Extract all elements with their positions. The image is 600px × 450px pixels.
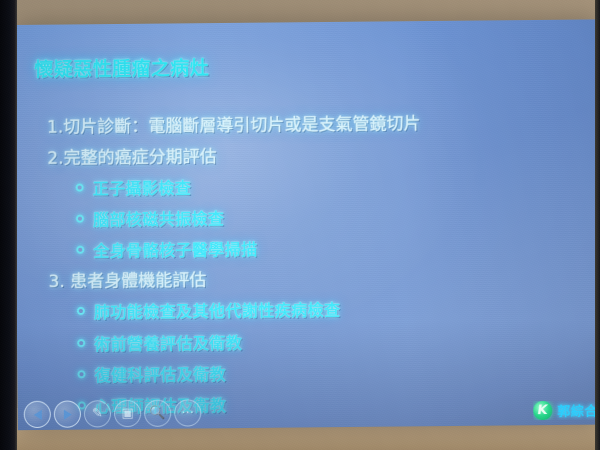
- square-icon: ▣: [121, 407, 133, 420]
- sub-bullet-item-3: 全身骨骼核子醫學掃描: [76, 236, 258, 262]
- bullet-item-3-label: 3. 患者身體機能評估: [48, 271, 206, 293]
- circle-bullet-icon: [76, 184, 84, 192]
- circle-bullet-icon: [77, 370, 85, 378]
- bullet-item-1-label: 1.切片診斷：電腦斷層導引切片或是支氣管鏡切片: [47, 114, 421, 138]
- bullet-item-3: 3. 患者身體機能評估: [48, 266, 206, 293]
- slide-title: 懷疑惡性腫瘤之病灶: [34, 53, 209, 82]
- triangle-right-icon: [63, 409, 71, 419]
- sub-bullet-item-5-label: 術前營養評估及衛教: [94, 330, 242, 356]
- sub-bullet-item-6-label: 復健科評估及衛教: [94, 361, 226, 386]
- sub-bullet-item-1-label: 正子攝影檢查: [93, 174, 192, 199]
- highlighter-tool-button[interactable]: ▣: [114, 400, 141, 427]
- sub-bullet-item-6: 復健科評估及衛教: [77, 361, 226, 387]
- sub-bullet-item-5: 術前營養評估及衛教: [77, 330, 242, 356]
- zoom-tool-button[interactable]: 🔍: [144, 400, 171, 427]
- circle-bullet-icon: [76, 215, 84, 223]
- hospital-logo-icon: K: [533, 401, 552, 420]
- projection-screen: 懷疑惡性腫瘤之病灶 1.切片診斷：電腦斷層導引切片或是支氣管鏡切片 2.完整的癌…: [14, 19, 600, 430]
- ellipsis-icon: ⋯: [181, 406, 194, 419]
- hospital-logo-letter: K: [537, 404, 549, 417]
- sub-bullet-item-4-label: 肺功能檢查及其他代謝性疾病檢查: [94, 296, 341, 322]
- circle-bullet-icon: [76, 246, 84, 254]
- photo-of-projected-slide: 懷疑惡性腫瘤之病灶 1.切片診斷：電腦斷層導引切片或是支氣管鏡切片 2.完整的癌…: [0, 0, 600, 450]
- bullet-item-2: 2.完整的癌症分期評估: [47, 142, 217, 169]
- photo-right-dark-edge: [595, 0, 600, 450]
- circle-bullet-icon: [77, 339, 85, 347]
- slide-content: 懷疑惡性腫瘤之病灶 1.切片診斷：電腦斷層導引切片或是支氣管鏡切片 2.完整的癌…: [14, 19, 600, 430]
- sub-bullet-item-2: 腦部核磁共振檢查: [76, 205, 225, 230]
- sub-bullet-item-2-label: 腦部核磁共振檢查: [93, 205, 225, 230]
- pen-icon: ✎: [92, 407, 103, 420]
- magnifier-icon: 🔍: [149, 407, 165, 420]
- sub-bullet-item-1: 正子攝影檢查: [76, 174, 192, 199]
- bullet-item-1: 1.切片診斷：電腦斷層導引切片或是支氣管鏡切片: [47, 109, 421, 138]
- sub-bullet-item-4: 肺功能檢查及其他代謝性疾病檢查: [77, 296, 341, 323]
- presentation-toolbar[interactable]: ✎ ▣ 🔍 ⋯: [24, 399, 202, 428]
- sub-bullet-item-3-label: 全身骨骼核子醫學掃描: [93, 236, 258, 262]
- bullet-item-2-label: 2.完整的癌症分期評估: [47, 147, 217, 169]
- circle-bullet-icon: [77, 307, 85, 315]
- more-options-button[interactable]: ⋯: [174, 399, 201, 426]
- photo-left-dark-edge: [0, 0, 17, 450]
- previous-slide-button[interactable]: [24, 401, 51, 428]
- next-slide-button[interactable]: [54, 400, 81, 427]
- hospital-logo-label: 郭綜合: [557, 400, 598, 419]
- pen-tool-button[interactable]: ✎: [84, 400, 111, 427]
- hospital-logo-watermark: K 郭綜合: [533, 400, 600, 420]
- triangle-left-icon: [33, 409, 41, 419]
